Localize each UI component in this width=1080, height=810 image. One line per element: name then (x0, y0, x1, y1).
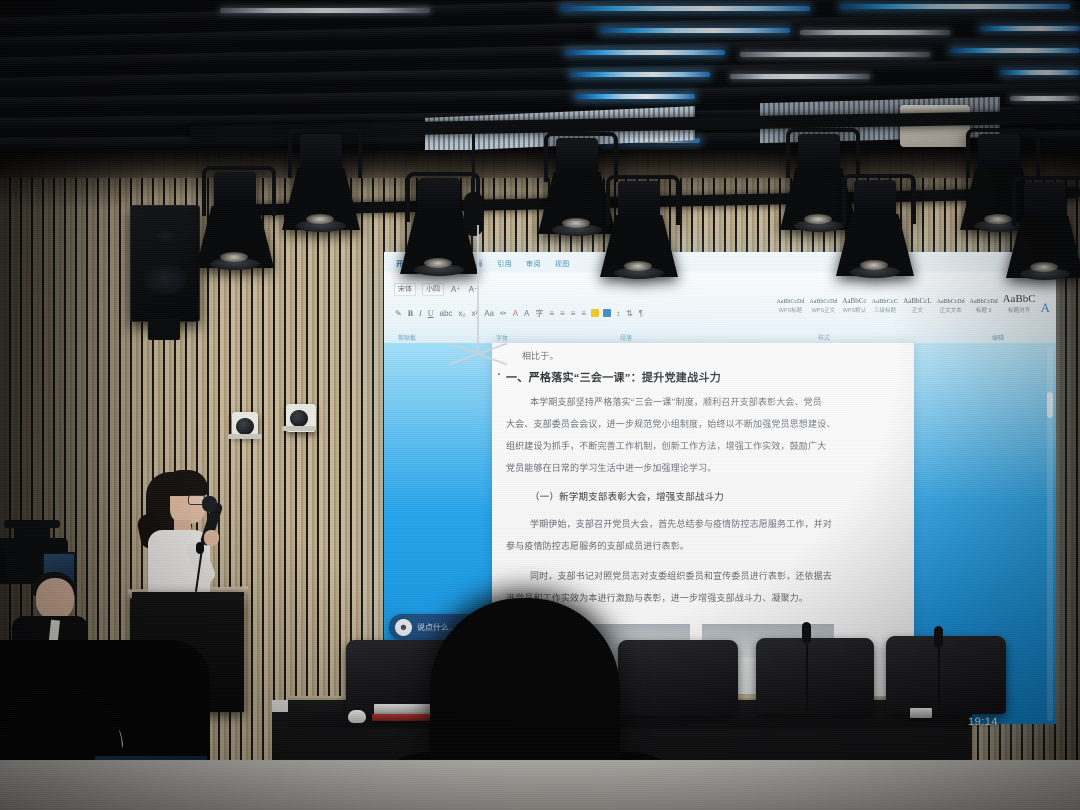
tab-references[interactable]: 引用 (497, 259, 512, 269)
ptz-camera-left (232, 412, 258, 436)
clear-format-icon[interactable]: A (523, 309, 530, 318)
list-bullet-icon (498, 373, 500, 375)
doc-line: 组织建设为抓手，不断完善工作机制，创新工作方法，增强工作实效，鼓励广大 (506, 439, 826, 452)
underline-button[interactable]: U (427, 309, 435, 318)
ptz-bracket (228, 434, 262, 439)
font-name-box[interactable]: 宋体 (394, 283, 416, 296)
doc-heading-2: （一）新学期支部表彰大会，增强支部战斗力 (530, 489, 724, 503)
align-right-icon[interactable]: ≡ (570, 309, 577, 318)
doc-line: 党员能够在日常的学习生活中进一步加强理论学习。 (506, 461, 716, 474)
line-spacing-icon[interactable]: ↕ (615, 309, 621, 318)
photo-scene: 开始 插入 页面布局 引用 审阅 视图 宋体 小四 A⁺ A⁻ ✎ (0, 0, 1080, 810)
strikethrough-button[interactable]: abc (439, 309, 454, 318)
style-more-button[interactable]: A (1041, 301, 1050, 314)
ptz-lens-icon (290, 410, 308, 427)
tab-review[interactable]: 审阅 (526, 259, 541, 269)
justify-icon[interactable]: ≡ (580, 309, 587, 318)
style-preview: AaBbC (1003, 294, 1036, 305)
doc-line: 大会、支部委员会会议，进一步规范党小组制度，始终以不断加强党员思想建设、 (506, 417, 835, 430)
style-heading-3[interactable]: AaBbCcDd 标题 3 (970, 299, 998, 314)
desk-microphone (938, 644, 940, 710)
subscript-button[interactable]: x₂ (457, 309, 466, 318)
style-label: 三级标题 (874, 306, 896, 314)
desk-mic-head (802, 622, 811, 644)
style-label: 正文 (912, 306, 923, 314)
scrollbar-thumb[interactable] (1047, 392, 1053, 418)
wps-ribbon-tabs: 开始 插入 页面布局 引用 审阅 视图 (384, 256, 1056, 272)
style-label: WPS默认 (843, 306, 867, 314)
doc-line: 参与疫情防控志愿服务的支部成员进行表彰。 (506, 539, 689, 552)
style-wps-body[interactable]: AaBbCcDd WPS正文 (809, 299, 837, 314)
tab-view[interactable]: 视图 (555, 259, 570, 269)
style-preview: AaBbCcDd (970, 299, 998, 305)
hanging-microphone (472, 130, 475, 200)
grow-font-icon[interactable]: A⁺ (450, 285, 462, 294)
ptz-camera-right (286, 404, 316, 432)
group-label-editing: 编辑 (992, 333, 1004, 342)
highlight-color-icon[interactable]: ✏ (499, 309, 508, 318)
style-preview: AaBbCcDd (809, 299, 837, 305)
ribbon-group-labels: 剪贴板 字体 段落 样式 编辑 (384, 330, 1056, 344)
format-painter-icon[interactable]: ✎ (394, 309, 403, 318)
style-body[interactable]: AaBbCcL 正文 (903, 298, 931, 314)
ptz-bracket (282, 426, 316, 431)
font-size-box[interactable]: 小四 (422, 283, 444, 296)
doc-line: 相比于。 (522, 349, 559, 362)
style-wps-heading[interactable]: AaBbCcDd WPS标题 (776, 299, 804, 314)
chat-avatar-icon: ☻ (395, 619, 412, 636)
bold-button[interactable]: B (407, 309, 414, 318)
italic-button[interactable]: I (418, 309, 423, 318)
show-marks-icon[interactable]: ¶ (638, 309, 644, 318)
style-label: WPS标题 (779, 306, 803, 314)
style-body-text[interactable]: AaBbCcDd 正文文本 (937, 299, 965, 314)
style-preview: AaBbCcC (871, 299, 898, 306)
group-label-styles: 样式 (818, 333, 830, 342)
align-left-icon[interactable]: ≡ (548, 309, 555, 318)
style-preview: AaBbCc (842, 298, 866, 305)
doc-line: 本学期支部坚持严格落实“三会一课”制度，顺利召开支部表彰大会、党员 (530, 395, 822, 408)
wall-clock-display: 19:14 (968, 716, 998, 728)
camera-lens-hood (0, 548, 6, 578)
floor (0, 760, 1080, 810)
group-label-font: 字体 (496, 333, 508, 342)
group-label-paragraph: 段落 (620, 333, 632, 342)
style-label: 标题对齐 (1008, 306, 1030, 314)
align-center-icon[interactable]: ≡ (559, 309, 566, 318)
nameplate (910, 708, 932, 718)
style-label: WPS正文 (812, 306, 836, 314)
pinyin-guide-icon[interactable]: 字 (534, 308, 544, 319)
style-label: 正文文本 (940, 306, 962, 314)
doc-heading-1: 一、严格落实“三会一课”：提升党建战斗力 (506, 369, 721, 385)
style-heading-align[interactable]: AaBbC 标题对齐 (1003, 294, 1036, 314)
speaker-tweeter (153, 228, 177, 244)
style-heading-3rd[interactable]: AaBbCcC 三级标题 (871, 299, 898, 315)
style-label: 标题 3 (976, 306, 992, 314)
doc-line: 学期伊始，支部召开党员大会，首先总结参与疫情防控志愿服务工作，并对 (530, 517, 832, 530)
computer-mouse (348, 710, 366, 723)
speaker-mount (148, 318, 180, 340)
mic-stand (477, 225, 479, 355)
desk-mic-head (934, 626, 943, 648)
chair (756, 638, 874, 714)
style-gallery: AaBbCcDd WPS标题 AaBbCcDd WPS正文 AaBbCc WPS… (776, 294, 1050, 314)
style-preview: AaBbCcDd (937, 299, 965, 305)
ptz-lens-icon (236, 418, 254, 435)
new-style-icon: A (1041, 301, 1050, 314)
chair (886, 636, 1006, 714)
group-label-clipboard: 剪贴板 (398, 333, 416, 342)
shading-color-swatch[interactable] (591, 309, 599, 317)
change-case-button[interactable]: Aa (483, 309, 495, 318)
style-preview: AaBbCcL (903, 298, 931, 305)
doc-line: 同时，支部书记对照党员志对支委组织委员和宣传委员进行表彰，还依据去 (530, 569, 832, 582)
style-wps-default[interactable]: AaBbCc WPS默认 (842, 298, 866, 314)
sort-icon[interactable]: ⇅ (625, 309, 634, 318)
chair (618, 640, 738, 716)
ceiling (0, 0, 1080, 175)
desk-microphone (806, 640, 808, 712)
speaker-woofer (143, 264, 187, 294)
borders-color-swatch[interactable] (603, 309, 611, 317)
style-preview: AaBbCcDd (776, 299, 804, 305)
wps-ribbon: 宋体 小四 A⁺ A⁻ ✎ B I U abc x₂ x² Aa ✏ (384, 272, 1056, 331)
wall-speaker (130, 205, 200, 322)
font-color-icon[interactable]: A (512, 309, 519, 318)
